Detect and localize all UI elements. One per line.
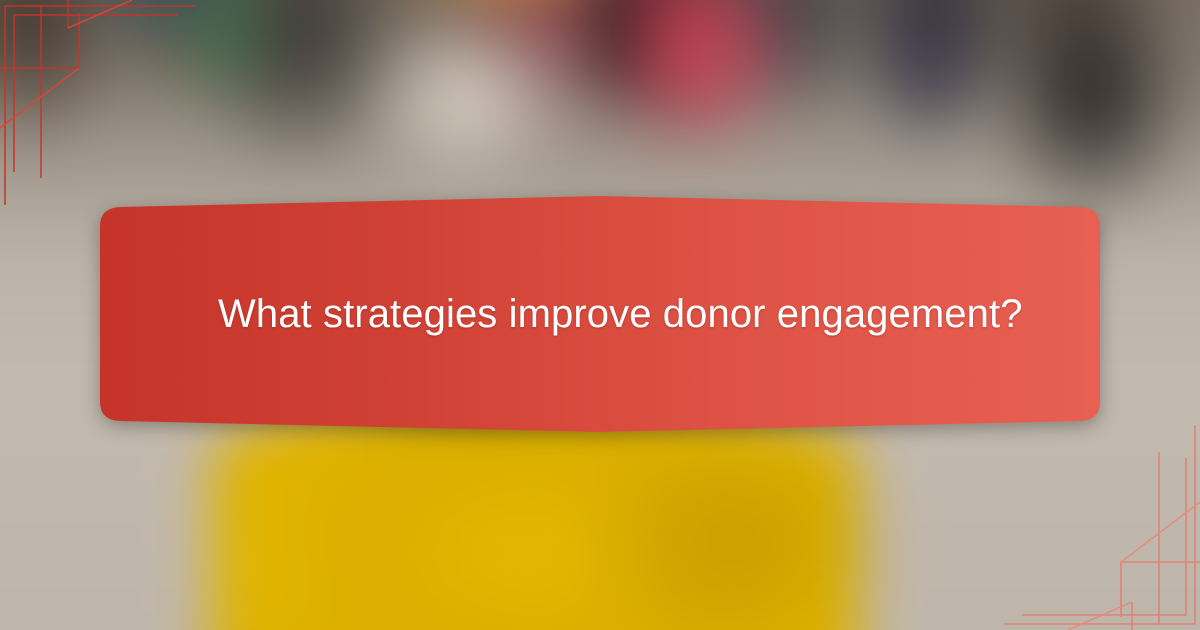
share-card: What strategies improve donor engagement… xyxy=(0,0,1200,630)
question-banner: What strategies improve donor engagement… xyxy=(100,196,1100,432)
question-text: What strategies improve donor engagement… xyxy=(218,196,1038,432)
